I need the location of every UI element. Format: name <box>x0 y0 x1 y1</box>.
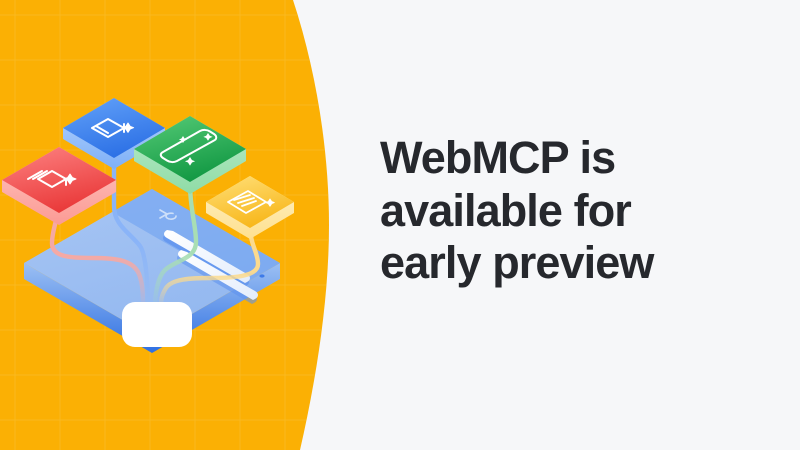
headline-line-1: WebMCP is <box>380 132 780 185</box>
headline-line-3: early preview <box>380 237 780 290</box>
platform-corner-dot <box>259 274 264 277</box>
webmcp-isometric-diagram <box>0 60 330 390</box>
promo-banner: WebMCP is available for early preview <box>0 0 800 450</box>
headline-line-2: available for <box>380 185 780 238</box>
page-title: WebMCP is available for early preview <box>380 132 780 290</box>
tool-handler-node <box>122 302 192 347</box>
headline-block: WebMCP is available for early preview <box>380 132 780 290</box>
